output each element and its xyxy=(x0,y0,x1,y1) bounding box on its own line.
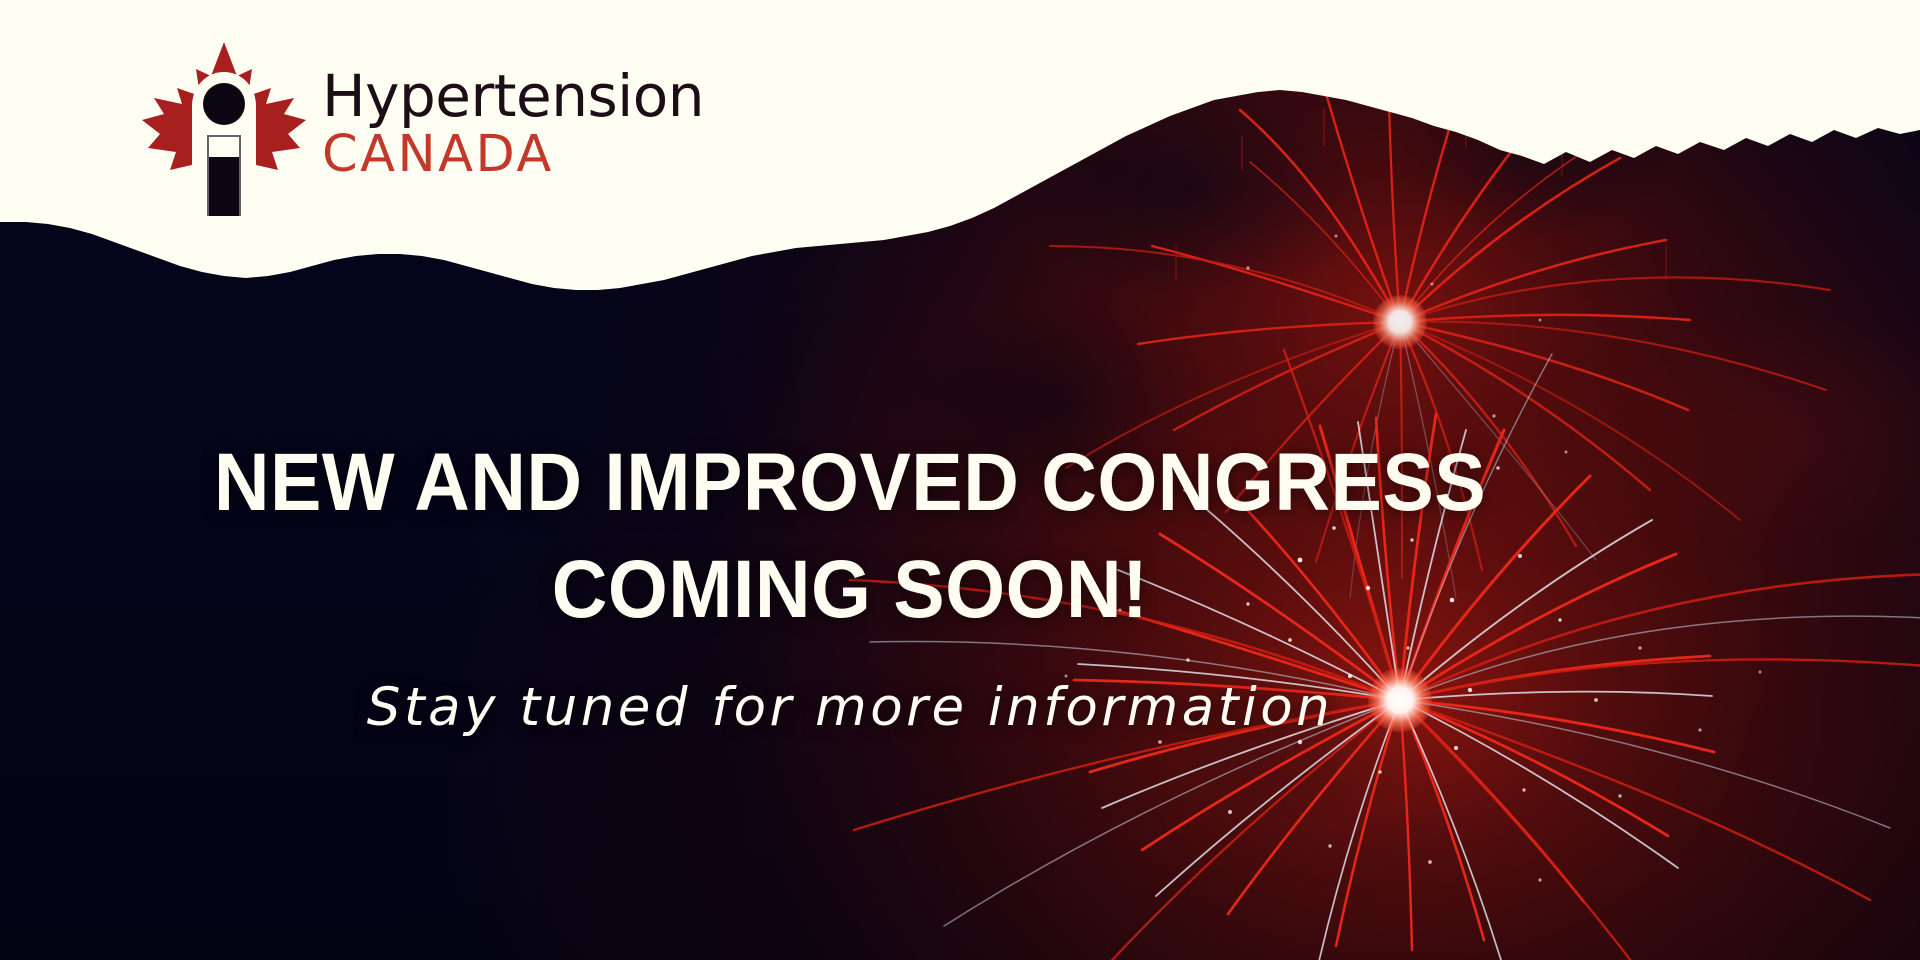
maple-leaf-icon xyxy=(140,38,308,216)
headline-line-2: COMING SOON! xyxy=(51,537,1649,644)
subheadline: Stay tuned for more information xyxy=(0,677,1700,738)
headline-line-1: NEW AND IMPROVED CONGRESS xyxy=(51,430,1649,537)
announcement-copy: NEW AND IMPROVED CONGRESS COMING SOON! S… xyxy=(0,430,1700,738)
logo-word-canada: CANADA xyxy=(322,129,704,180)
promotional-banner: Hypertension CANADA NEW AND IMPROVED CON… xyxy=(0,0,1920,960)
hypertension-canada-logo[interactable]: Hypertension CANADA xyxy=(140,38,704,216)
logo-wordmark: Hypertension CANADA xyxy=(322,67,704,188)
logo-word-hypertension: Hypertension xyxy=(322,67,704,125)
